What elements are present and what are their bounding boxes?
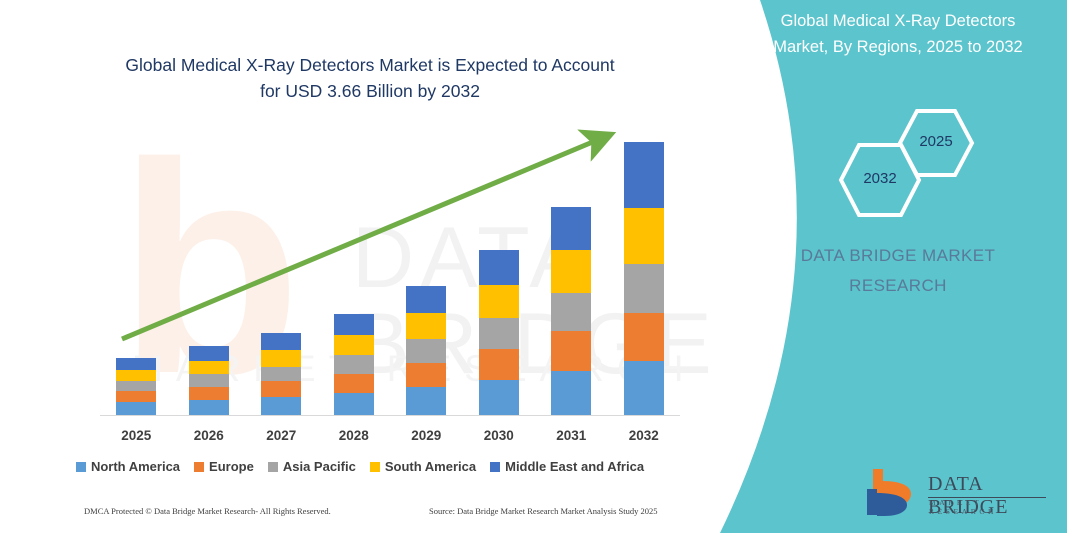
panel-brand-line-2: RESEARCH [743, 271, 1053, 301]
side-panel: Global Medical X-Ray Detectors Market, B… [720, 0, 1067, 533]
bar-segment-north-america[interactable] [261, 397, 301, 415]
bar-segment-asia-pacific[interactable] [261, 367, 301, 382]
panel-title-line-2: Market, By Regions, 2025 to 2032 [748, 34, 1048, 60]
legend-item-north-america[interactable]: North America [76, 459, 180, 474]
bar-segment-europe[interactable] [334, 374, 374, 393]
hexagon-label-2025: 2025 [897, 133, 975, 150]
chart-legend: North AmericaEuropeAsia PacificSouth Ame… [0, 459, 720, 474]
bar-segment-north-america[interactable] [116, 402, 156, 415]
bar-segment-europe[interactable] [261, 381, 301, 397]
bar-segment-south-america[interactable] [479, 285, 519, 319]
chart-title-line-2: for USD 3.66 Billion by 2032 [90, 78, 650, 104]
x-axis-label-2032: 2032 [614, 428, 674, 443]
chart-title: Global Medical X-Ray Detectors Market is… [90, 52, 650, 104]
bar-segment-north-america[interactable] [479, 380, 519, 415]
x-axis-label-2027: 2027 [251, 428, 311, 443]
legend-label: South America [385, 459, 476, 474]
logo-name-bottom: MARKET RESEARCH [929, 498, 1055, 516]
bar-2027[interactable] [261, 333, 301, 415]
x-axis-label-2026: 2026 [179, 428, 239, 443]
bar-segment-europe[interactable] [189, 387, 229, 400]
x-axis-label-2028: 2028 [324, 428, 384, 443]
legend-swatch-icon [268, 462, 278, 472]
bar-segment-south-america[interactable] [189, 361, 229, 374]
bar-segment-europe[interactable] [406, 363, 446, 388]
footer-copyright: DMCA Protected © Data Bridge Market Rese… [84, 506, 331, 516]
bar-segment-europe[interactable] [479, 349, 519, 380]
bar-segment-asia-pacific[interactable] [551, 293, 591, 332]
bar-segment-middle-east-and-africa[interactable] [189, 346, 229, 360]
bar-segment-europe[interactable] [551, 331, 591, 371]
x-axis-label-2030: 2030 [469, 428, 529, 443]
bar-segment-middle-east-and-africa[interactable] [479, 250, 519, 284]
bar-segment-south-america[interactable] [116, 370, 156, 381]
bar-2032[interactable] [624, 142, 664, 415]
company-logo: DATA BRIDGE MARKET RESEARCH [865, 467, 1055, 519]
bar-segment-middle-east-and-africa[interactable] [551, 207, 591, 250]
legend-swatch-icon [194, 462, 204, 472]
legend-swatch-icon [370, 462, 380, 472]
bar-2030[interactable] [479, 250, 519, 415]
legend-swatch-icon [490, 462, 500, 472]
bar-segment-asia-pacific[interactable] [334, 355, 374, 374]
bar-segment-middle-east-and-africa[interactable] [406, 286, 446, 313]
hexagon-badge-2025: 2025 [897, 108, 975, 178]
bar-segment-south-america[interactable] [551, 250, 591, 293]
bar-segment-north-america[interactable] [406, 387, 446, 415]
bar-segment-asia-pacific[interactable] [406, 339, 446, 363]
bar-segment-north-america[interactable] [551, 371, 591, 415]
legend-item-asia-pacific[interactable]: Asia Pacific [268, 459, 356, 474]
panel-title: Global Medical X-Ray Detectors Market, B… [748, 8, 1048, 60]
x-axis-label-2025: 2025 [106, 428, 166, 443]
bar-segment-middle-east-and-africa[interactable] [261, 333, 301, 350]
bar-segment-north-america[interactable] [334, 393, 374, 415]
footer: DMCA Protected © Data Bridge Market Rese… [0, 506, 720, 526]
panel-title-line-1: Global Medical X-Ray Detectors [748, 8, 1048, 34]
bar-segment-asia-pacific[interactable] [189, 374, 229, 387]
bar-2029[interactable] [406, 286, 446, 415]
bar-segment-middle-east-and-africa[interactable] [624, 142, 664, 208]
bar-segment-asia-pacific[interactable] [479, 318, 519, 349]
legend-item-middle-east-and-africa[interactable]: Middle East and Africa [490, 459, 644, 474]
bar-segment-north-america[interactable] [189, 400, 229, 415]
bar-2028[interactable] [334, 314, 374, 415]
x-axis-label-2029: 2029 [396, 428, 456, 443]
bar-segment-middle-east-and-africa[interactable] [116, 358, 156, 369]
legend-item-south-america[interactable]: South America [370, 459, 476, 474]
x-axis-labels: 20252026202720282029203020312032 [100, 428, 680, 450]
data-bridge-logo-icon [865, 467, 923, 517]
bar-segment-south-america[interactable] [624, 208, 664, 265]
bar-2026[interactable] [189, 346, 229, 415]
legend-label: Middle East and Africa [505, 459, 644, 474]
panel-brand-line-1: DATA BRIDGE MARKET [743, 241, 1053, 271]
x-axis-label-2031: 2031 [541, 428, 601, 443]
panel-brand-text: DATA BRIDGE MARKET RESEARCH [743, 241, 1053, 301]
footer-source: Source: Data Bridge Market Research Mark… [429, 506, 658, 516]
bar-chart-plot-area [100, 130, 680, 415]
bar-segment-south-america[interactable] [406, 313, 446, 339]
bar-segment-asia-pacific[interactable] [116, 381, 156, 391]
legend-label: Asia Pacific [283, 459, 356, 474]
legend-swatch-icon [76, 462, 86, 472]
legend-label: North America [91, 459, 180, 474]
bar-segment-asia-pacific[interactable] [624, 264, 664, 312]
chart-title-line-1: Global Medical X-Ray Detectors Market is… [90, 52, 650, 78]
legend-item-europe[interactable]: Europe [194, 459, 254, 474]
bar-segment-europe[interactable] [624, 313, 664, 361]
legend-label: Europe [209, 459, 254, 474]
bar-segment-south-america[interactable] [261, 350, 301, 366]
bar-2025[interactable] [116, 358, 156, 415]
bar-segment-europe[interactable] [116, 391, 156, 402]
bar-segment-north-america[interactable] [624, 361, 664, 415]
bar-segment-middle-east-and-africa[interactable] [334, 314, 374, 335]
bar-2031[interactable] [551, 207, 591, 415]
infographic-root: b DATA BRIDGE MARKET RESEARCH Global Med… [0, 0, 1067, 533]
bar-segment-south-america[interactable] [334, 335, 374, 355]
x-axis-line [100, 415, 680, 416]
